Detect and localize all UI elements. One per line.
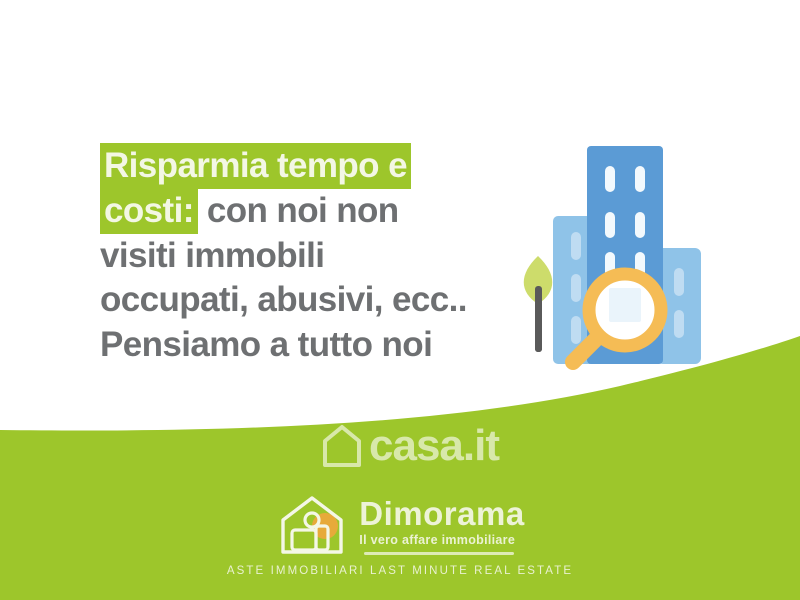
dimorama-logo-lockup: Dimorama Il vero affare immobiliare ASTE… [0, 492, 800, 577]
house-outline-logo-icon [275, 492, 349, 558]
buildings-magnifier-illustration [505, 128, 735, 378]
headline: Risparmia tempo e costi: con noi non vis… [100, 144, 480, 368]
promo-banner: casa.it Risparmia tempo e costi: con noi… [0, 0, 800, 600]
logo-row: Dimorama Il vero affare immobiliare [275, 492, 524, 558]
logo-words: Dimorama Il vero affare immobiliare [359, 497, 524, 555]
logo-underline [364, 552, 514, 555]
logo-category-strip: ASTE IMMOBILIARI LAST MINUTE REAL ESTATE [227, 565, 573, 577]
tree-icon [524, 256, 553, 352]
logo-tagline: Il vero affare immobiliare [359, 534, 515, 547]
logo-name: Dimorama [359, 497, 524, 530]
